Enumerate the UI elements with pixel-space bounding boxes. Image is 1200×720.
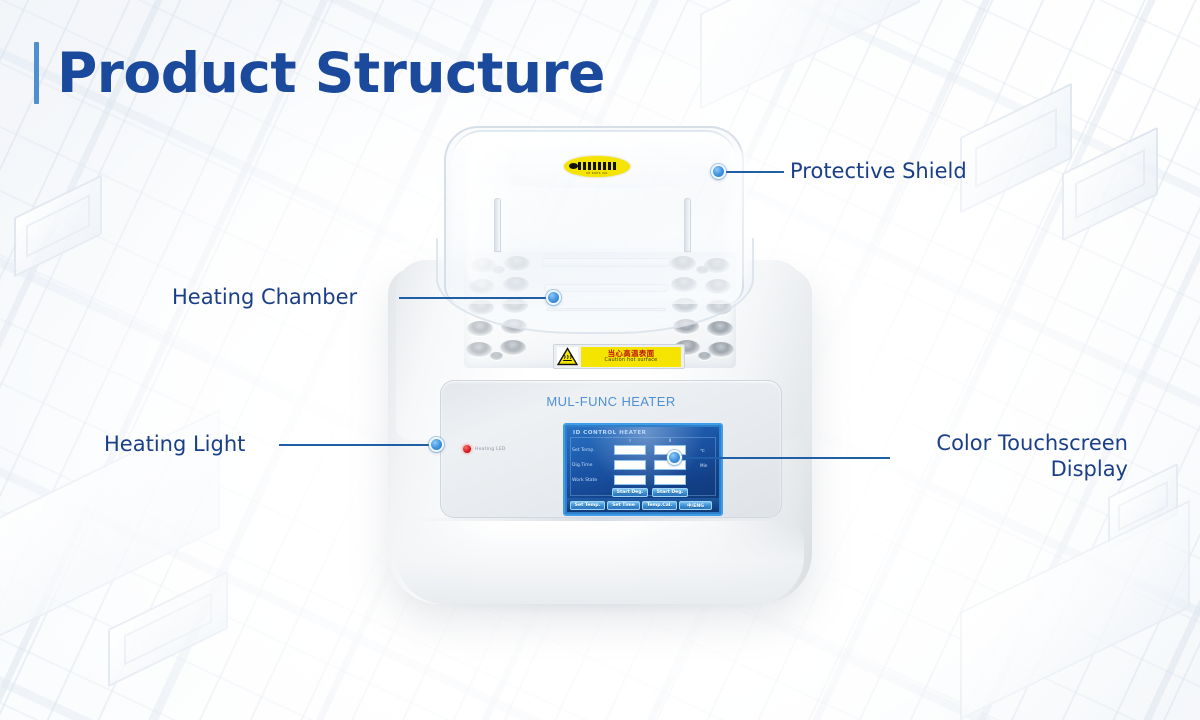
hot-surface-warning-label: 当心高温表面 Caution hot surface: [553, 344, 685, 369]
shield-hinge-left: [494, 198, 501, 252]
screen-row-label-set-temp: Set Temp.: [572, 448, 595, 453]
infographic-stage: Product Structure: [0, 0, 1200, 720]
lid-sticker-bars: [578, 162, 616, 170]
lid-sticker-mark: [569, 163, 578, 169]
callout-dot-protective-shield[interactable]: [711, 164, 726, 179]
front-control-panel: MUL-FUNC HEATER Heating LED ID CONTROL H…: [440, 380, 782, 518]
shield-hinge-right: [684, 198, 691, 252]
well: [500, 340, 526, 355]
screen-button-set-temp[interactable]: Set Temp.: [570, 501, 605, 510]
well: [708, 342, 734, 357]
callout-line-heating-chamber: [399, 297, 551, 299]
background-chip-2: [1062, 127, 1158, 242]
screen-start-deg-button-1[interactable]: Start Deg.: [612, 488, 648, 497]
screen-field-work-state-I[interactable]: [614, 475, 646, 485]
screen-button-language[interactable]: 中/ENG: [679, 501, 712, 510]
screen-field-work-state-II[interactable]: [654, 475, 686, 485]
panel-title: MUL-FUNC HEATER: [441, 394, 781, 409]
callout-line-heating-light: [279, 444, 434, 446]
hot-surface-warning-en: Caution hot surface: [605, 358, 658, 363]
lid-sticker-text: CE ROHS ISO: [586, 172, 607, 175]
heating-led-group: Heating LED: [463, 445, 506, 453]
callout-label-protective-shield: Protective Shield: [790, 159, 967, 185]
title-accent-bar: [34, 42, 39, 104]
hot-surface-warning-text-area: 当心高温表面 Caution hot surface: [581, 347, 681, 367]
well-small: [490, 352, 503, 360]
callout-dot-color-touchscreen-display[interactable]: [667, 450, 682, 465]
hot-surface-warning-cn: 当心高温表面: [608, 350, 655, 358]
screen-button-set-time[interactable]: Set Time: [607, 501, 640, 510]
lid-certification-sticker: CE ROHS ISO: [564, 156, 630, 177]
screen-field-set-temp-I[interactable]: [614, 445, 646, 455]
touchscreen-display[interactable]: ID CONTROL HEATER I II Set Temp. ℃ Dig.T…: [567, 427, 719, 512]
device-front-groove: [410, 518, 790, 521]
background-chip-1: [960, 83, 1072, 214]
touchscreen-bezel[interactable]: ID CONTROL HEATER I II Set Temp. ℃ Dig.T…: [563, 423, 723, 516]
background-chip-5: [14, 175, 102, 278]
screen-row-label-work-state: Work State: [572, 478, 597, 483]
callout-dot-heating-chamber[interactable]: [546, 290, 561, 305]
callout-line-protective-shield: [722, 171, 784, 173]
screen-button-temp-cal[interactable]: Temp.Cal.: [642, 501, 677, 510]
background-slab-2: [960, 500, 1190, 720]
protective-shield-highlight-right: [722, 148, 748, 284]
page-title: Product Structure: [57, 46, 605, 101]
page-title-block: Product Structure: [34, 42, 605, 104]
device-front-bevel: [396, 524, 804, 604]
callout-label-color-touchscreen-display: Color Touchscreen Display: [760, 431, 1128, 482]
screen-column-header-1: I: [613, 439, 647, 444]
well: [707, 321, 733, 336]
screen-unit-celsius: ℃: [700, 448, 705, 453]
background-chip-4: [108, 571, 228, 688]
well-small: [698, 352, 711, 360]
screen-start-deg-button-2[interactable]: Start Deg.: [652, 488, 688, 497]
heating-led-label: Heating LED: [475, 447, 506, 452]
background-slab-3: [700, 0, 920, 110]
screen-field-dig-time-I[interactable]: [614, 460, 646, 470]
screen-header: ID CONTROL HEATER: [573, 430, 646, 436]
product-illustration: CE ROHS ISO 当心高温表面 Caution hot surface M…: [340, 120, 860, 620]
well: [467, 321, 493, 336]
screen-unit-min: Min: [700, 463, 707, 468]
screen-column-header-2: II: [653, 439, 687, 444]
callout-label-heating-light: Heating Light: [104, 432, 245, 458]
callout-label-heating-chamber: Heating Chamber: [172, 285, 357, 311]
hot-surface-triangle-icon: [557, 347, 578, 366]
well: [466, 342, 492, 357]
callout-dot-heating-light[interactable]: [429, 437, 444, 452]
screen-row-label-dig-time: Dig.Time: [572, 463, 592, 468]
protective-shield-highlight-left: [466, 142, 512, 292]
heating-led-indicator: [463, 445, 471, 453]
